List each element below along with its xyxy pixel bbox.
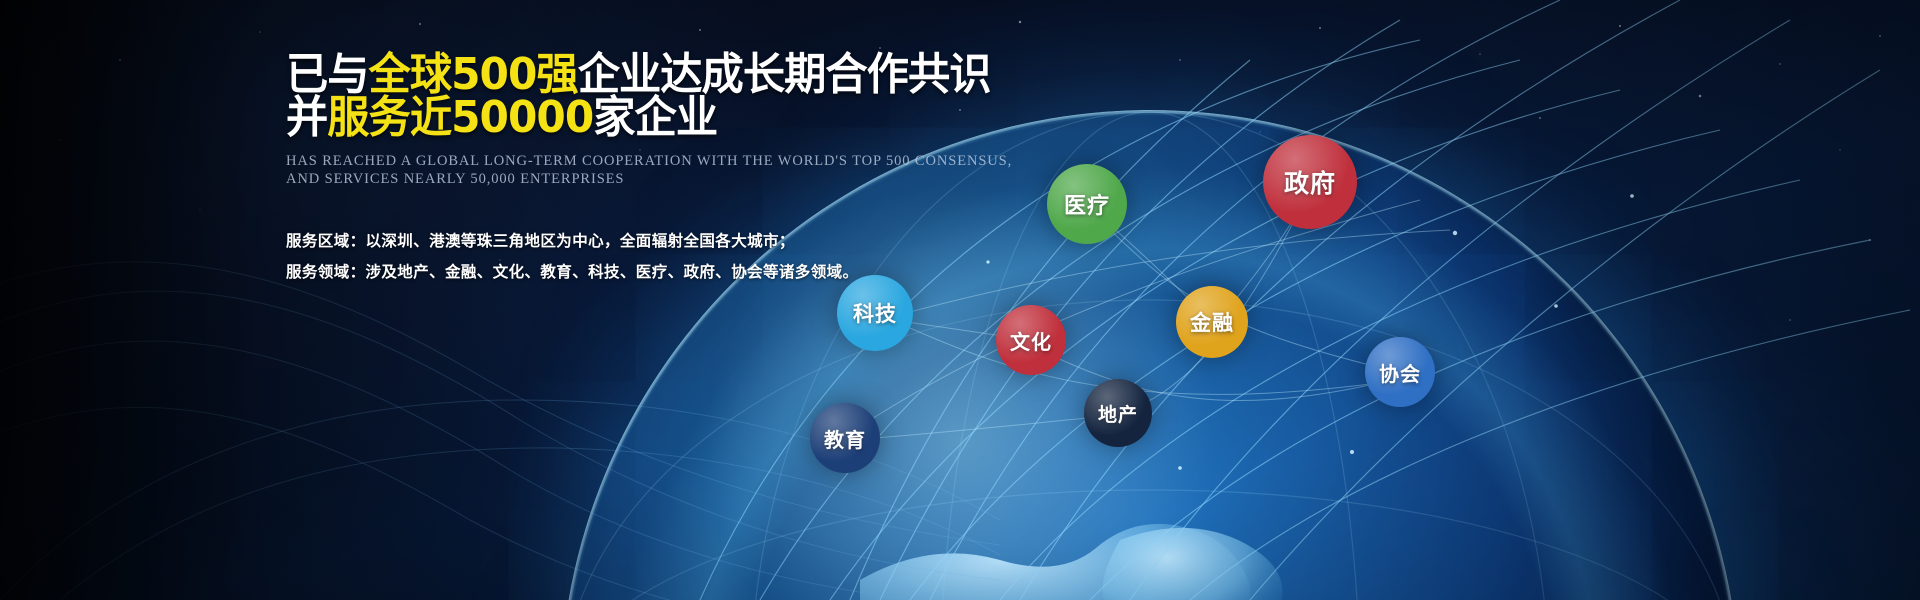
- bubble-5[interactable]: 协会: [1365, 337, 1435, 407]
- bubble-label: 协会: [1379, 358, 1421, 387]
- body-copy-block: 服务区域：以深圳、港澳等珠三角地区为中心，全面辐射全国各大城市； 服务领域：涉及…: [286, 226, 1046, 288]
- subtitle-line-2: AND SERVICES NEARLY 50,000 ENTERPRISES: [286, 170, 1046, 188]
- headline-2-part-1: 并: [286, 92, 327, 143]
- bubble-label: 文化: [1010, 326, 1052, 355]
- promo-banner: 已与全球500强企业达成长期合作共识 并服务近50000家企业 HAS REAC…: [0, 0, 1920, 600]
- bubble-1[interactable]: 医疗: [1047, 164, 1127, 244]
- headline-line-2: 并服务近50000家企业: [286, 95, 1016, 140]
- bubble-label: 教育: [824, 424, 866, 453]
- bubble-7[interactable]: 教育: [810, 403, 880, 473]
- bubble-label: 地产: [1098, 400, 1138, 427]
- subtitle-line-1: HAS REACHED A GLOBAL LONG-TERM COOPERATI…: [286, 152, 1046, 170]
- headline-2-part-3: 家企业: [593, 92, 717, 143]
- service-field-line: 服务领域：涉及地产、金融、文化、教育、科技、医疗、政府、协会等诸多领域。: [286, 257, 1046, 288]
- copy-block: 已与全球500强企业达成长期合作共识 并服务近50000家企业 HAS REAC…: [286, 52, 1046, 288]
- headline-2-highlight: 服务近50000: [327, 92, 593, 143]
- service-area-line: 服务区域：以深圳、港澳等珠三角地区为中心，全面辐射全国各大城市；: [286, 226, 1046, 257]
- bubble-4[interactable]: 文化: [996, 305, 1066, 375]
- bubble-label: 政府: [1284, 164, 1336, 200]
- subtitle-block: HAS REACHED A GLOBAL LONG-TERM COOPERATI…: [286, 152, 1046, 188]
- bubble-0[interactable]: 政府: [1263, 135, 1357, 229]
- bubble-label: 医疗: [1064, 188, 1110, 220]
- bubble-label: 金融: [1190, 307, 1234, 337]
- bubble-3[interactable]: 金融: [1176, 286, 1248, 358]
- bubble-label: 科技: [853, 298, 897, 328]
- bubble-6[interactable]: 地产: [1084, 379, 1152, 447]
- bubble-2[interactable]: 科技: [837, 275, 913, 351]
- headline-line-1: 已与全球500强企业达成长期合作共识: [286, 52, 1016, 97]
